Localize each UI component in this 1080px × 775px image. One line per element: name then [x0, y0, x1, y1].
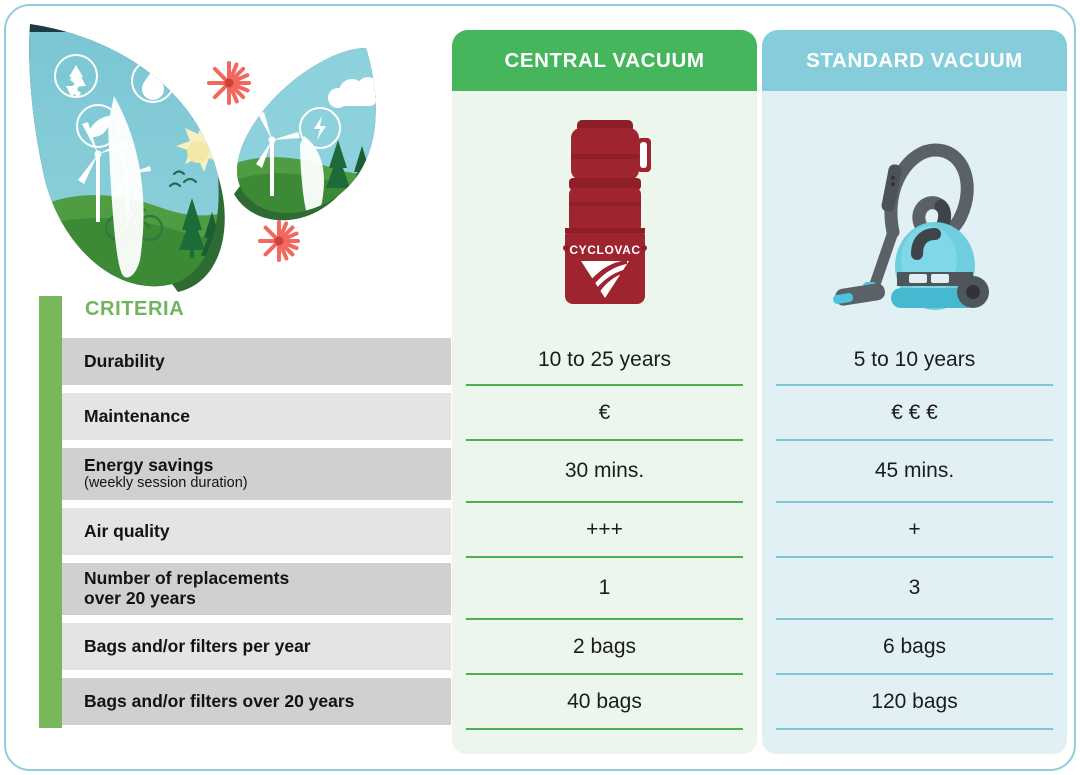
central-vacuum-canister-icon: CYCLOVAC: [452, 91, 757, 336]
criteria-label: Air quality: [84, 522, 451, 542]
criteria-label: Number of replacements over 20 years: [84, 569, 451, 608]
criteria-row-bags-per-year: Bags and/or filters per year: [62, 623, 451, 670]
criteria-row-air-quality: Air quality: [62, 508, 451, 555]
column-header-central: CENTRAL VACUUM: [452, 30, 757, 91]
value-air-quality: +++: [466, 503, 743, 558]
criteria-label: Maintenance: [84, 407, 451, 427]
criteria-label: Bags and/or filters over 20 years: [84, 692, 451, 712]
criteria-label: Durability: [84, 352, 451, 372]
canister-vacuum-icon: [762, 91, 1067, 336]
eco-leaves-illustration: [22, 16, 422, 306]
column-header-standard: STANDARD VACUUM: [762, 30, 1067, 91]
value-energy-savings: 30 mins.: [466, 441, 743, 503]
value-maintenance: €: [466, 386, 743, 441]
criteria-label: Bags and/or filters per year: [84, 637, 451, 657]
column-standard-vacuum: STANDARD VACUUM: [762, 30, 1067, 754]
criteria-title: CRITERIA: [85, 298, 184, 321]
criteria-row-bags-20-years: Bags and/or filters over 20 years: [62, 678, 451, 725]
criteria-column: CRITERIA Durability Maintenance Energy s…: [39, 296, 451, 728]
value-replacements: 1: [466, 558, 743, 620]
value-bags-20-years: 40 bags: [466, 675, 743, 730]
criteria-row-replacements: Number of replacements over 20 years: [62, 563, 451, 615]
criteria-accent-bar: [39, 296, 62, 728]
value-bags-per-year: 2 bags: [466, 620, 743, 675]
criteria-row-maintenance: Maintenance: [62, 393, 451, 440]
svg-text:CYCLOVAC: CYCLOVAC: [569, 243, 640, 257]
value-replacements: 3: [776, 558, 1053, 620]
column-central-vacuum: CENTRAL VACUUM CYCLOVAC: [452, 30, 757, 754]
value-durability: 5 to 10 years: [776, 336, 1053, 386]
value-energy-savings: 45 mins.: [776, 441, 1053, 503]
value-bags-20-years: 120 bags: [776, 675, 1053, 730]
criteria-row-list: Durability Maintenance Energy savings (w…: [62, 338, 451, 733]
criteria-row-durability: Durability: [62, 338, 451, 385]
criteria-label: Energy savings: [84, 456, 451, 476]
central-value-list: 10 to 25 years € 30 mins. +++ 1 2 bags 4…: [452, 336, 757, 730]
value-maintenance: € € €: [776, 386, 1053, 441]
value-bags-per-year: 6 bags: [776, 620, 1053, 675]
criteria-row-energy-savings: Energy savings (weekly session duration): [62, 448, 451, 500]
tree-icon: [374, 150, 390, 176]
criteria-sublabel: (weekly session duration): [84, 476, 451, 492]
value-durability: 10 to 25 years: [466, 336, 743, 386]
value-air-quality: +: [776, 503, 1053, 558]
comparison-card: CRITERIA Durability Maintenance Energy s…: [4, 4, 1076, 771]
standard-value-list: 5 to 10 years € € € 45 mins. + 3 6 bags …: [762, 336, 1067, 730]
